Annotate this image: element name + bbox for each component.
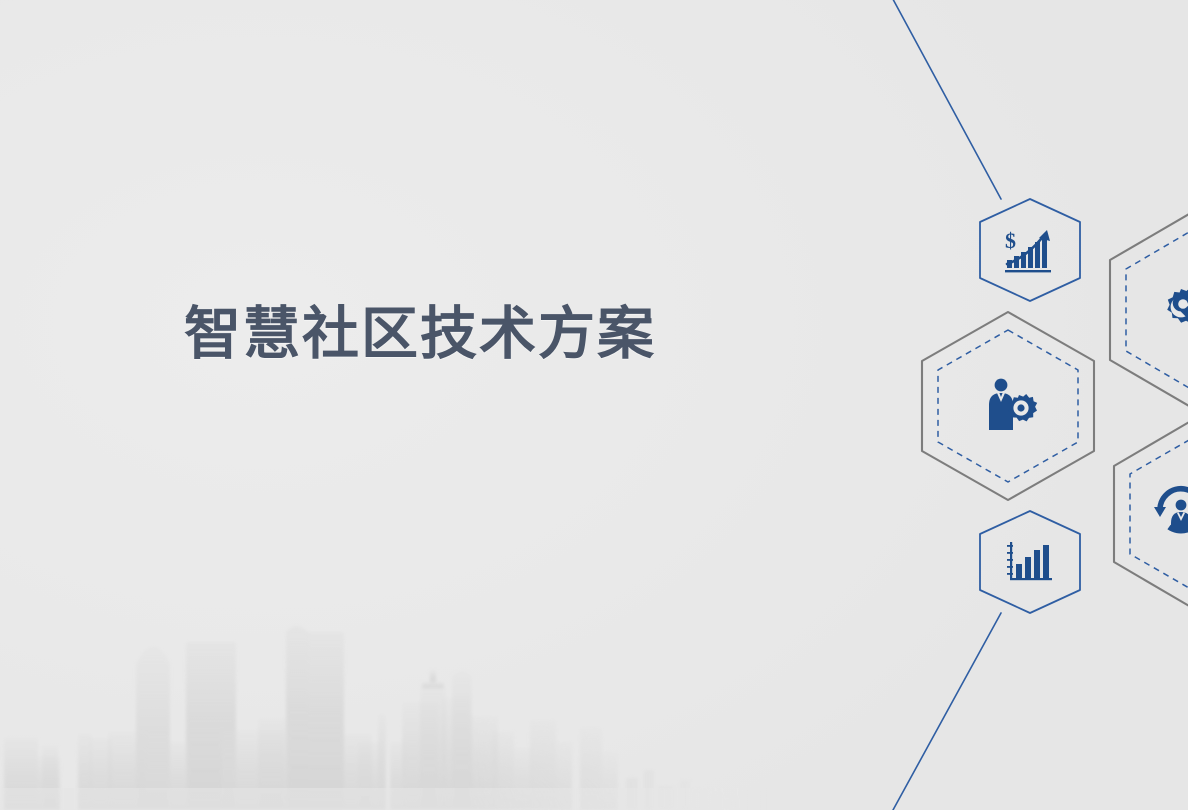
connector-line-top [888,0,1001,199]
title-block: 智慧社区技术方案 [0,302,840,368]
gear-wrench-icon [1156,282,1188,340]
dollar-growth-chart-icon: $ [1000,222,1060,278]
city-skyline-silhouette [0,620,770,810]
bar-chart-icon [1006,538,1056,586]
page-title: 智慧社区技术方案 [0,302,840,368]
slide-canvas: 智慧社区技术方案 [0,0,1188,810]
person-cycle-icon [1152,482,1188,536]
svg-text:$: $ [1005,228,1016,253]
businessman-gear-icon [982,374,1044,436]
connector-line-bottom [893,613,1001,810]
